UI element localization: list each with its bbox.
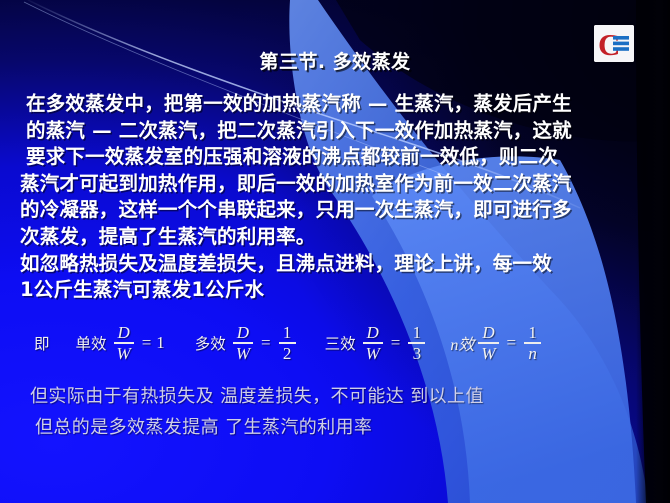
equals-sign: = [391,333,401,353]
fraction-denominator: W [478,344,498,362]
fraction-d-over-w: D W [363,324,383,362]
formula-row: 即 单效 D W = 1 多效 D W = 1 2 [34,324,544,362]
closing-line: 但总的是多效蒸发提高 了生蒸汽的利用率 [35,412,484,443]
result-denominator: 2 [280,344,295,362]
formula-label: 三效 [325,332,356,354]
fraction-numerator: D [114,324,132,342]
fraction-d-over-w: D W [114,324,134,362]
formula-triple-effect: 三效 D W = 1 3 [325,324,429,362]
result-numerator: 1 [280,324,295,342]
result-numerator: 1 [410,324,425,342]
equals-sign: = [507,333,517,353]
formula-label: n效 [450,331,474,355]
equals-sign: = [142,333,152,353]
body-line: 在多效蒸发中，把第一效的加热蒸汽称 — 生蒸汽，蒸发后产生 [26,91,650,118]
formula-multi-effect: 多效 D W = 1 2 [195,324,299,362]
slide-body-text: 在多效蒸发中，把第一效的加热蒸汽称 — 生蒸汽，蒸发后产生 的蒸汽 — 二次蒸汽… [26,91,650,304]
fraction-numerator: D [479,324,497,342]
presentation-slide: C 第三节. 多效蒸发 在多效蒸发中，把第一效的加热蒸汽称 — 生蒸汽，蒸发后产… [0,0,670,503]
fraction-result: 1 n [524,324,541,362]
body-line: 的蒸汽 — 二次蒸汽，把二次蒸汽引入下一效作加热蒸汽，这就 [26,118,650,145]
fraction-d-over-w: D W [478,324,498,362]
closing-text-block: 但实际由于有热损失及 温度差损失，不可能达 到以上值 但总的是多效蒸发提高 了生… [30,381,484,443]
result-denominator: 3 [410,344,425,362]
logo-bar-middle [613,42,629,46]
formula-label: 单效 [76,332,107,354]
body-line: 蒸汽才可起到加热作用，即后一效的加热室作为前一效二次蒸汽 [20,171,650,198]
body-line: 1公斤生蒸汽可蒸发1公斤水 [20,277,650,304]
result-numerator: 1 [525,324,540,342]
equals-sign: = [261,333,271,353]
result-denominator: n [525,344,540,362]
fraction-numerator: D [364,324,382,342]
fraction-result: 1 3 [408,324,425,362]
formula-single-effect: 单效 D W = 1 [76,324,165,362]
fraction-denominator: W [233,344,253,362]
fraction-numerator: D [234,324,252,342]
body-line: 的冷凝器，这样一个个串联起来，只用一次生蒸汽，即可进行多 [20,197,650,224]
fraction-result: 1 2 [279,324,296,362]
fraction-d-over-w: D W [233,324,253,362]
body-line: 次蒸发，提高了生蒸汽的利用率。 [20,224,650,251]
fraction-denominator: W [114,344,134,362]
closing-line: 但实际由于有热损失及 温度差损失，不可能达 到以上值 [30,381,484,412]
fraction-denominator: W [363,344,383,362]
body-line: 如忽略热损失及温度差损失，且沸点进料，理论上讲，每一效 [20,251,650,278]
formula-label: 多效 [195,332,226,354]
body-line: 要求下一效蒸发室的压强和溶液的沸点都较前一效低，则二次 [26,144,650,171]
slide-title: 第三节. 多效蒸发 [0,47,670,74]
formula-lead-label: 即 [34,332,50,354]
logo-bar-top [613,36,629,40]
formula-result: 1 [156,333,165,353]
formula-n-effect: n效 D W = 1 n [450,324,544,362]
